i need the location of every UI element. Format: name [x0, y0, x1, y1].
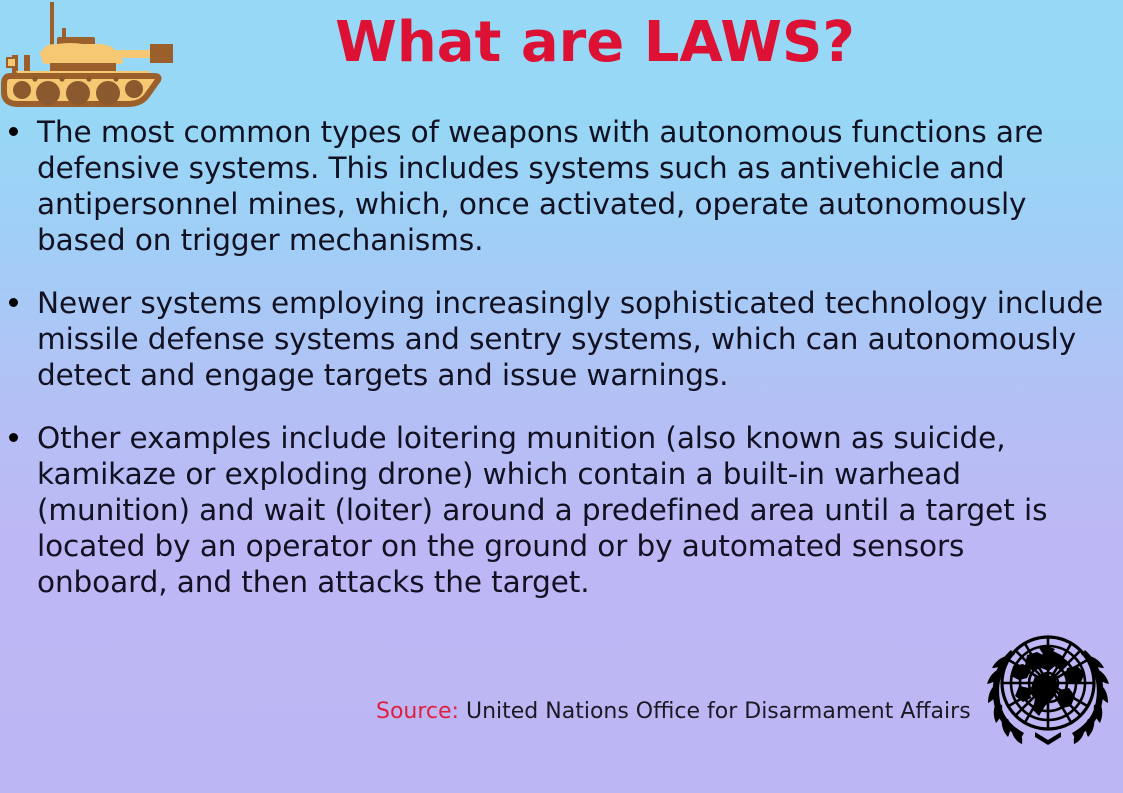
bullet-text: Newer systems employing increasingly sop… [37, 285, 1119, 393]
presentation-slide: What are LAWS? The most common types of … [0, 0, 1123, 793]
bullet-text: The most common types of weapons with au… [37, 114, 1123, 258]
bullet-marker-icon [9, 433, 18, 442]
united-nations-emblem-icon [975, 628, 1121, 746]
tank-icon [0, 0, 190, 112]
bullet-list: The most common types of weapons with au… [0, 114, 1123, 627]
source-attribution: Source: United Nations Office for Disarm… [376, 697, 971, 727]
bullet-text: Other examples include loitering munitio… [37, 420, 1082, 600]
list-item: Other examples include loitering munitio… [0, 420, 1123, 600]
bullet-marker-icon [9, 298, 18, 307]
source-label: Source: [376, 699, 459, 724]
slide-title: What are LAWS? [200, 7, 990, 79]
list-item: Newer systems employing increasingly sop… [0, 285, 1123, 393]
list-item: The most common types of weapons with au… [0, 114, 1123, 258]
bullet-marker-icon [9, 127, 18, 136]
source-value: United Nations Office for Disarmament Af… [466, 699, 971, 724]
